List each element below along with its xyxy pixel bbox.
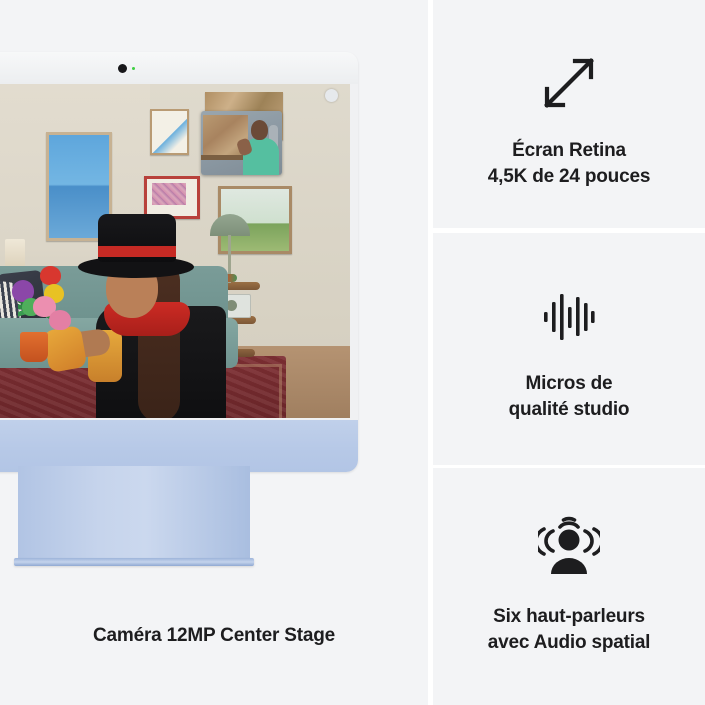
feature-line-2: 4,5K de 24 pouces — [488, 164, 650, 190]
imac-screen-content — [0, 84, 350, 418]
camera-feature-panel: Caméra 12MP Center Stage — [0, 0, 428, 705]
imac-display-body — [0, 52, 358, 472]
feature-card-display-label: Écran Retina 4,5K de 24 pouces — [488, 138, 650, 190]
imac-stand-foot — [14, 558, 254, 566]
feature-card-microphones: Micros de qualité studio — [433, 233, 705, 465]
flower-pink-2 — [49, 310, 71, 330]
feature-card-display: Écran Retina 4,5K de 24 pouces — [433, 0, 705, 228]
feature-card-microphones-label: Micros de qualité studio — [509, 371, 630, 423]
camera-lens-icon — [118, 64, 127, 73]
girl-top-hat-band — [98, 246, 176, 257]
flower-red — [40, 266, 61, 285]
product-feature-grid: Caméra 12MP Center Stage Écran Retina 4,… — [0, 0, 705, 705]
imac-product-image — [0, 52, 358, 572]
imac-top-bezel — [0, 52, 358, 84]
feature-line-1: Écran Retina — [488, 138, 650, 164]
feature-card-speakers: Six haut-parleurs avec Audio spatial — [433, 468, 705, 705]
feature-line-2: qualité studio — [509, 397, 630, 423]
wall-art-red-inner — [152, 183, 186, 205]
facetime-pip-window — [201, 111, 282, 175]
screen-corner-light — [325, 89, 338, 102]
feature-cards-column: Écran Retina 4,5K de 24 pouces Micros de — [433, 0, 705, 705]
camera-indicator-light-icon — [132, 67, 135, 70]
audio-waveform-icon — [532, 279, 606, 353]
pip-person-head — [251, 120, 268, 140]
wall-art-top — [150, 109, 189, 155]
pip-shelf — [201, 155, 249, 160]
imac-chin — [0, 420, 358, 472]
feature-card-speakers-label: Six haut-parleurs avec Audio spatial — [488, 604, 651, 656]
expand-diagonal-arrows-icon — [532, 46, 606, 120]
feature-line-1: Six haut-parleurs — [488, 604, 651, 630]
feature-line-1: Micros de — [509, 371, 630, 397]
camera-feature-caption: Caméra 12MP Center Stage — [0, 623, 428, 649]
floor-lamp-shade — [5, 239, 25, 267]
feature-line-2: avec Audio spatial — [488, 630, 651, 656]
spatial-audio-person-icon — [532, 508, 606, 582]
imac-stand-neck — [18, 466, 250, 564]
